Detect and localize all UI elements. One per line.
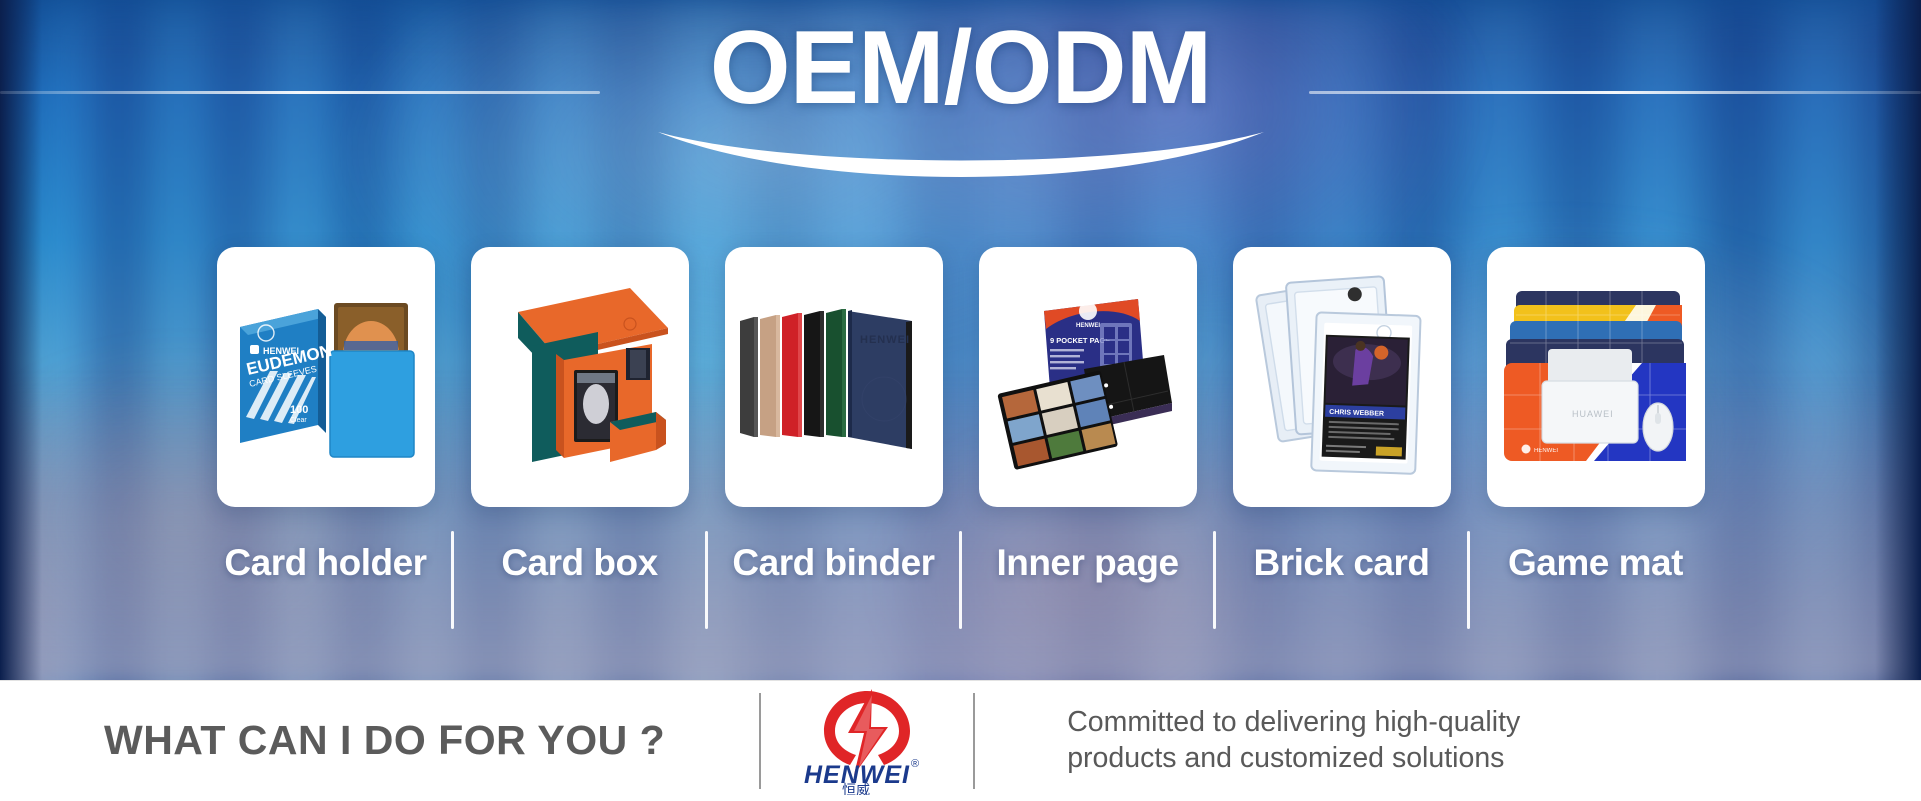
product-label-text: Card binder bbox=[732, 525, 934, 584]
product-label-text: Game mat bbox=[1508, 525, 1683, 584]
card-deck-box-product-photo bbox=[480, 272, 680, 482]
product-label-text: Card box bbox=[501, 525, 657, 584]
svg-text:HUAWEI: HUAWEI bbox=[1572, 409, 1614, 419]
product-label-card-holder[interactable]: Card holder bbox=[217, 525, 435, 645]
swoosh-underline-icon bbox=[656, 130, 1266, 178]
product-label-card-box[interactable]: Card box bbox=[471, 525, 689, 645]
product-label-row: Card holder Card box Card binder Inner p… bbox=[0, 525, 1921, 645]
banner-footer: WHAT CAN I DO FOR YOU ? HENWEI ® 恒威 Comm… bbox=[0, 680, 1921, 801]
footer-tagline: Committed to delivering high-quality pro… bbox=[1067, 705, 1520, 776]
tagline-line-1: Committed to delivering high-quality bbox=[1067, 705, 1520, 740]
henwei-logo-icon: HENWEI ® 恒威 bbox=[792, 687, 942, 795]
label-divider bbox=[451, 531, 454, 629]
product-label-text: Brick card bbox=[1254, 525, 1430, 584]
game-playmat-product-photo: HENWEI HUAWEI bbox=[1496, 277, 1696, 477]
label-divider bbox=[1213, 531, 1216, 629]
svg-text:100: 100 bbox=[290, 404, 308, 416]
footer-question: WHAT CAN I DO FOR YOU ? bbox=[104, 717, 665, 764]
banner-header: OEM/ODM bbox=[0, 0, 1921, 200]
card-sleeves-product-photo: HENWEI EUDEMON CARD SLEEVES 100 Clear bbox=[226, 267, 426, 487]
svg-text:恒威: 恒威 bbox=[842, 783, 870, 795]
product-label-text: Card holder bbox=[224, 525, 426, 584]
label-divider bbox=[959, 531, 962, 629]
svg-text:Clear: Clear bbox=[290, 417, 307, 424]
product-card-inner-page[interactable]: HENWEI 9 POCKET PAGE bbox=[979, 247, 1197, 507]
product-label-inner-page[interactable]: Inner page bbox=[979, 525, 1197, 645]
card-binders-product-photo: HENWEI bbox=[734, 277, 934, 477]
oem-odm-promo-banner: OEM/ODM bbox=[0, 0, 1921, 801]
product-label-game-mat[interactable]: Game mat bbox=[1487, 525, 1705, 645]
svg-text:HENWEI: HENWEI bbox=[1076, 323, 1100, 329]
svg-text:®: ® bbox=[911, 758, 919, 770]
footer-divider-right bbox=[973, 693, 975, 789]
magnetic-card-holder-product-photo: CHRIS WEBBER bbox=[1242, 270, 1442, 485]
page-title: OEM/ODM bbox=[0, 16, 1921, 120]
product-card-row: HENWEI EUDEMON CARD SLEEVES 100 Clear bbox=[0, 247, 1921, 507]
tagline-line-2: products and customized solutions bbox=[1067, 741, 1520, 776]
product-card-card-box[interactable] bbox=[471, 247, 689, 507]
product-label-brick-card[interactable]: Brick card bbox=[1233, 525, 1451, 645]
label-divider bbox=[705, 531, 708, 629]
svg-text:HENWEI: HENWEI bbox=[1534, 448, 1558, 454]
product-card-card-binder[interactable]: HENWEI bbox=[725, 247, 943, 507]
product-card-game-mat[interactable]: HENWEI HUAWEI bbox=[1487, 247, 1705, 507]
brand-logo[interactable]: HENWEI ® 恒威 bbox=[761, 687, 973, 795]
product-card-card-holder[interactable]: HENWEI EUDEMON CARD SLEEVES 100 Clear bbox=[217, 247, 435, 507]
product-card-brick-card[interactable]: CHRIS WEBBER bbox=[1233, 247, 1451, 507]
binder-inner-pages-product-photo: HENWEI 9 POCKET PAGE bbox=[988, 277, 1188, 477]
label-divider bbox=[1467, 531, 1470, 629]
product-label-text: Inner page bbox=[996, 525, 1178, 584]
footer-top-divider bbox=[0, 680, 1921, 681]
svg-text:HENWEI: HENWEI bbox=[860, 334, 910, 346]
product-label-card-binder[interactable]: Card binder bbox=[725, 525, 943, 645]
